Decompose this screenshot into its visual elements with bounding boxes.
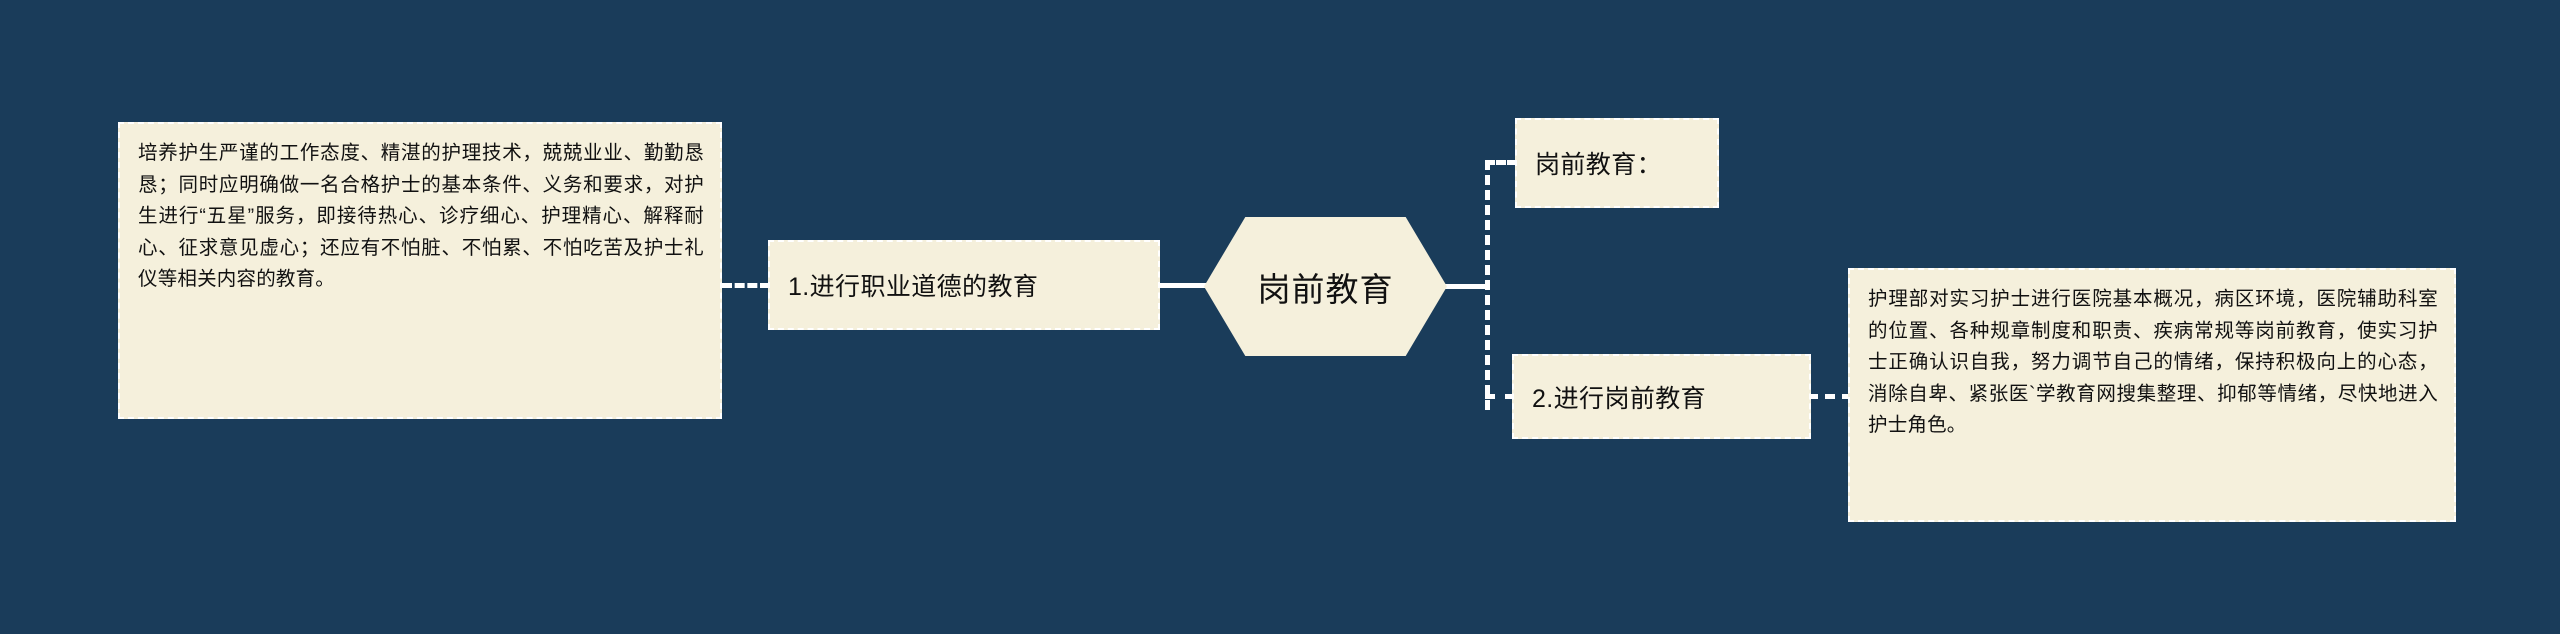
connector-spine-to-branch-2: [1485, 394, 1515, 399]
right-detail-node[interactable]: 护理部对实习护士进行医院基本概况，病区环境，医院辅助科室的位置、各种规章制度和职…: [1848, 268, 2456, 522]
connector-center-to-right-spine: [1443, 284, 1487, 289]
center-node-label: 岗前教育: [1258, 263, 1394, 311]
connector-spine-to-right-heading: [1485, 160, 1517, 165]
branch-1-label: 1.进行职业道德的教育: [788, 267, 1038, 303]
right-heading-node[interactable]: 岗前教育：: [1515, 118, 1719, 208]
connector-branch-1-to-center: [1158, 283, 1210, 288]
branch-node-pre-job-education[interactable]: 2.进行岗前教育: [1512, 354, 1811, 439]
left-detail-node[interactable]: 培养护生严谨的工作态度、精湛的护理技术，兢兢业业、勤勤恳恳；同时应明确做一名合格…: [118, 122, 722, 419]
connector-branch-2-to-right-detail: [1808, 394, 1852, 399]
mindmap-canvas: 培养护生严谨的工作态度、精湛的护理技术，兢兢业业、勤勤恳恳；同时应明确做一名合格…: [0, 0, 2560, 634]
right-heading-label: 岗前教育：: [1535, 145, 1662, 181]
left-detail-text: 培养护生严谨的工作态度、精湛的护理技术，兢兢业业、勤勤恳恳；同时应明确做一名合格…: [138, 138, 704, 296]
right-detail-text: 护理部对实习护士进行医院基本概况，病区环境，医院辅助科室的位置、各种规章制度和职…: [1868, 284, 2438, 442]
branch-2-label: 2.进行岗前教育: [1532, 379, 1706, 415]
connector-right-vertical-spine: [1485, 160, 1490, 410]
connector-left-detail-to-branch-1: [722, 283, 770, 288]
branch-node-professional-ethics[interactable]: 1.进行职业道德的教育: [768, 240, 1160, 330]
center-node-pre-job-education[interactable]: 岗前教育: [1204, 217, 1447, 356]
